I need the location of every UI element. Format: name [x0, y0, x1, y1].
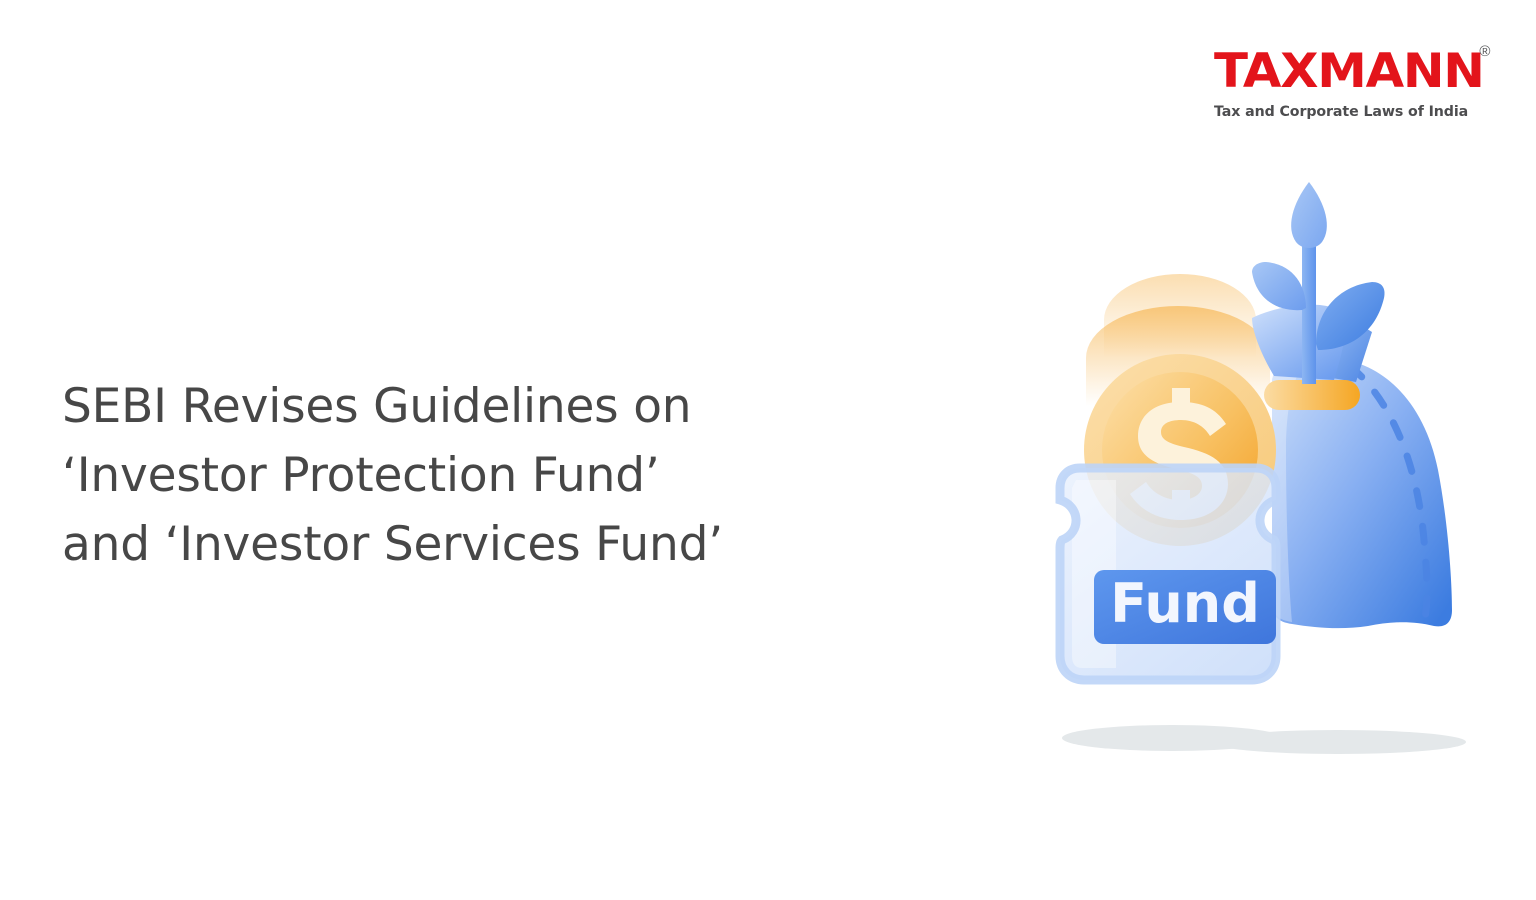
logo-tagline: Tax and Corporate Laws of India [1214, 104, 1464, 120]
page-title: SEBI Revises Guidelines on ‘Investor Pro… [62, 372, 822, 579]
taxmann-logo: TAXMANN ® Tax and Corporate Laws of Indi… [1214, 48, 1464, 120]
headline-line-1: SEBI Revises Guidelines on [62, 372, 822, 441]
fund-illustration-svg: Fund [1020, 170, 1500, 790]
logo-wordmark: TAXMANN [1214, 48, 1484, 95]
banner-canvas: TAXMANN ® Tax and Corporate Laws of Indi… [0, 0, 1536, 900]
logo-wordmark-wrap: TAXMANN ® [1214, 48, 1468, 95]
fund-jar-label-text: Fund [1110, 572, 1260, 635]
fund-jar-group: Fund [1060, 468, 1276, 680]
headline-line-3: and ‘Investor Services Fund’ [62, 510, 822, 579]
plant-leaf-right [1316, 282, 1385, 350]
ground-shadow-group [1062, 725, 1466, 754]
plant-top-bud-icon [1291, 182, 1327, 248]
money-bag-group [1252, 305, 1452, 629]
fund-illustration: Fund [1020, 170, 1500, 790]
shadow-ellipse-right [1210, 730, 1466, 754]
registered-trademark-icon: ® [1479, 44, 1490, 59]
plant-leaf-left [1252, 262, 1306, 310]
money-bag-tie-band [1264, 380, 1360, 410]
headline-line-2: ‘Investor Protection Fund’ [62, 441, 822, 510]
